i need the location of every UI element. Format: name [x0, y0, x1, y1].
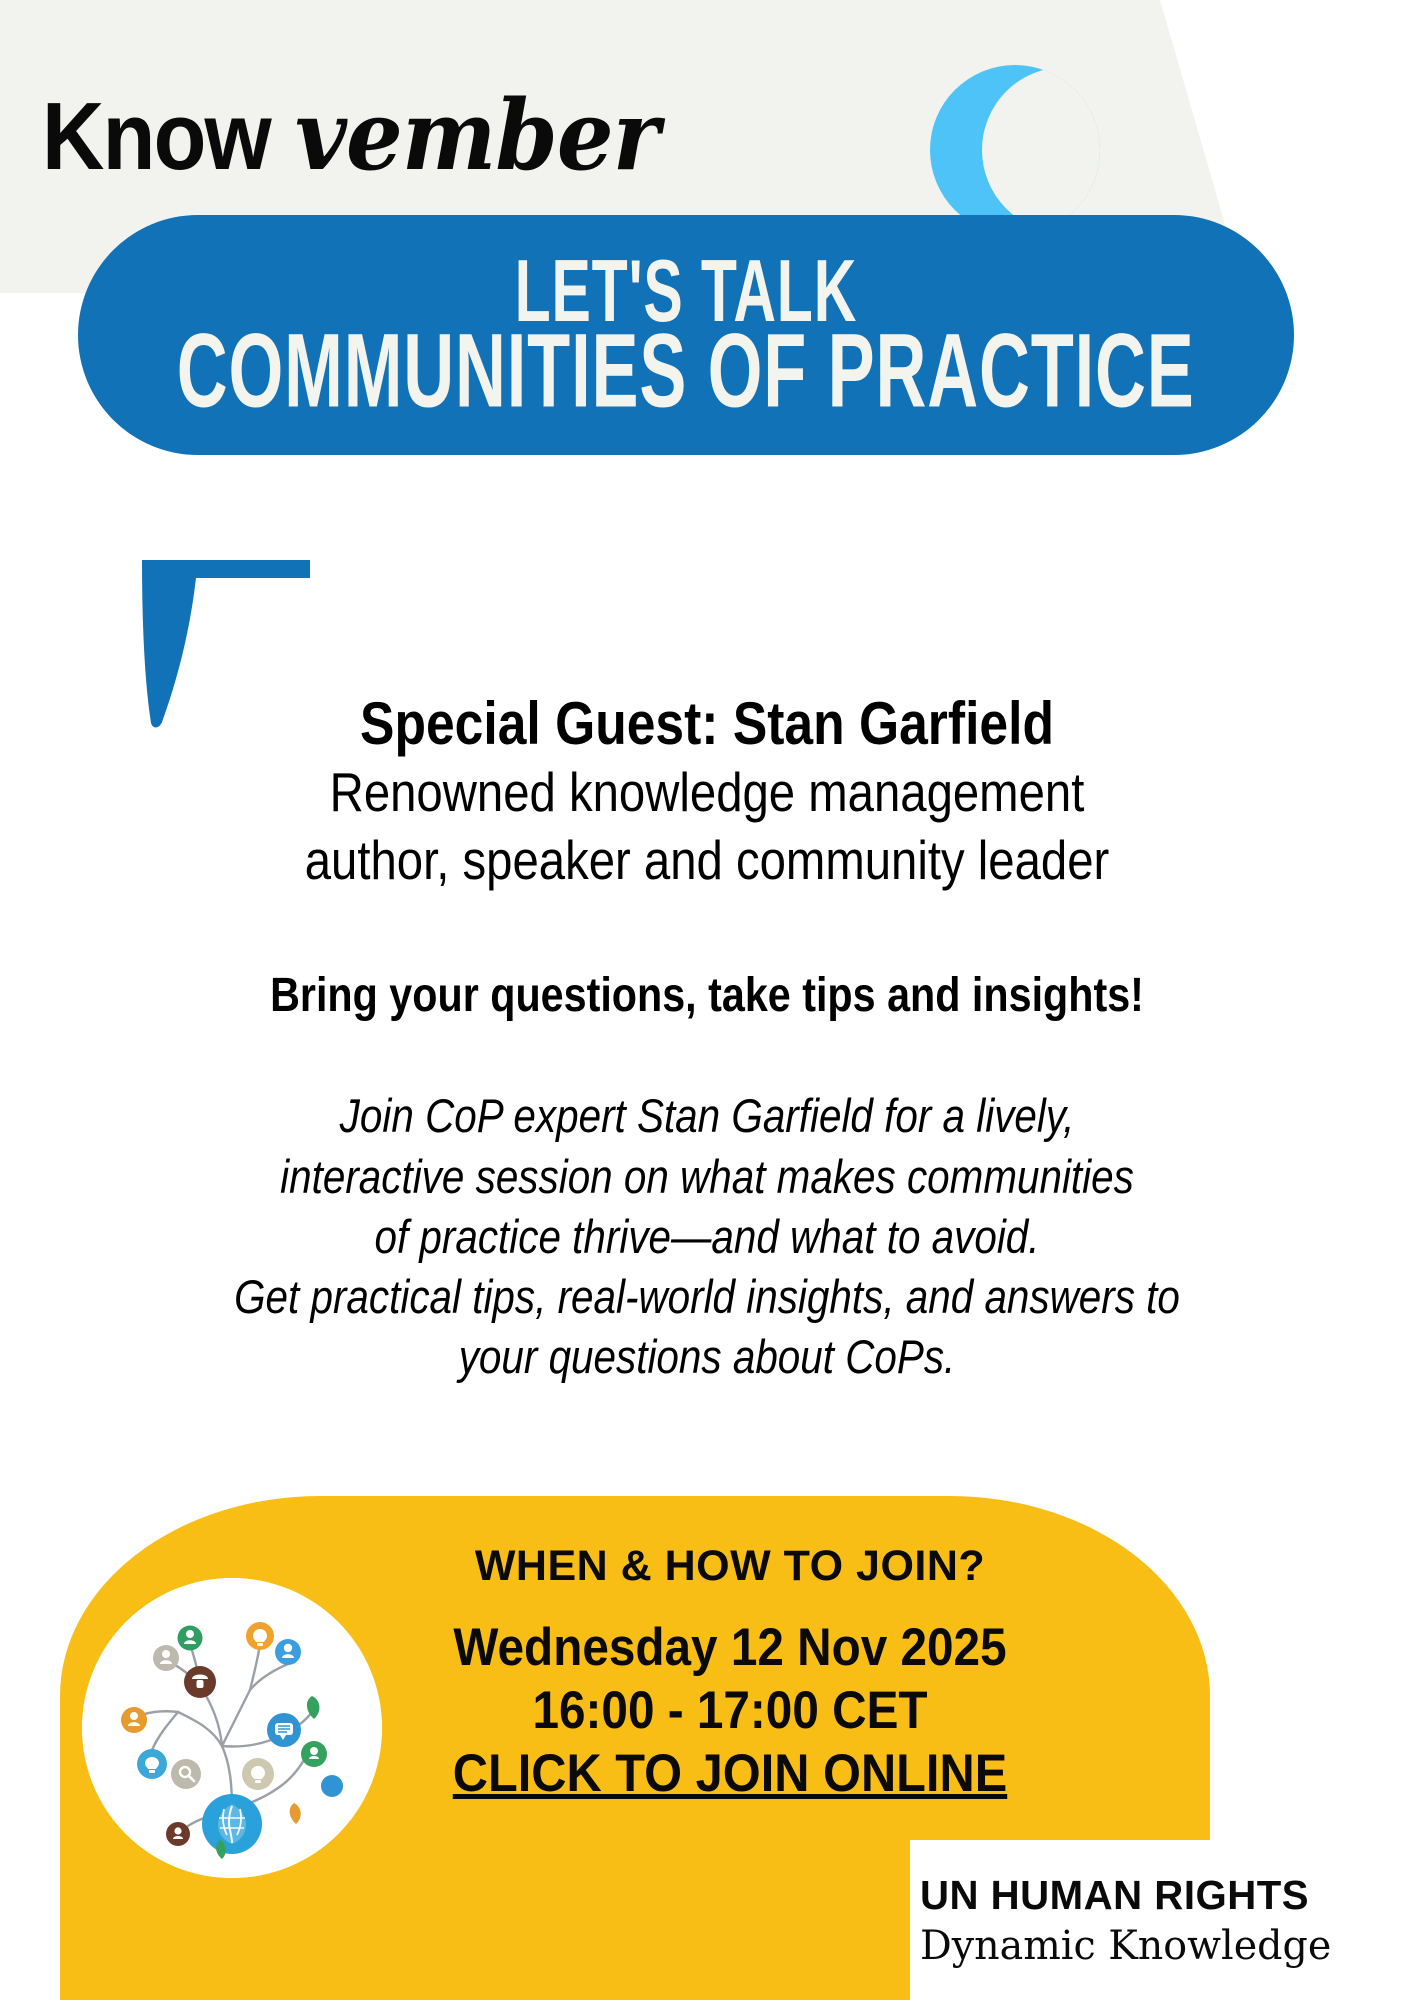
main-content: Special Guest: Stan Garfield Renowned kn…: [0, 690, 1414, 1387]
logo-line-1: UN HUMAN RIGHTS: [920, 1872, 1309, 1919]
join-details: WHEN & HOW TO JOIN? Wednesday 12 Nov 202…: [330, 1542, 1130, 1806]
paragraph-line-3: of practice thrive—and what to avoid.: [99, 1207, 1315, 1267]
paragraph-line-4: Get practical tips, real-world insights,…: [99, 1267, 1315, 1327]
brand-know: Know: [42, 89, 270, 185]
speech-bubble: LET'S TALK COMMUNITIES OF PRACTICE: [78, 215, 1294, 455]
paragraph-line-1: Join CoP expert Stan Garfield for a live…: [99, 1086, 1315, 1146]
logo-line-2: Dynamic Knowledge: [920, 1923, 1331, 1969]
event-time: 16:00 - 17:00 CET: [370, 1680, 1090, 1743]
brand-vember: vember: [295, 88, 659, 184]
tagline: Bring your questions, take tips and insi…: [99, 967, 1315, 1025]
guest-desc-line-1: Renowned knowledge management: [99, 761, 1315, 825]
join-online-link[interactable]: CLICK TO JOIN ONLINE: [362, 1742, 1098, 1806]
event-date: Wednesday 12 Nov 2025: [370, 1617, 1090, 1680]
paragraph-line-2: interactive session on what makes commun…: [99, 1147, 1315, 1207]
bubble-line-2: COMMUNITIES OF PRACTICE: [177, 320, 1195, 423]
un-human-rights-logo: UN HUMAN RIGHTS Dynamic Knowledge: [910, 1840, 1382, 2000]
brand-logo: Knowvember: [42, 88, 687, 185]
paragraph-line-5: your questions about CoPs.: [99, 1327, 1315, 1387]
guest-desc-line-2: author, speaker and community leader: [99, 829, 1315, 893]
join-heading: WHEN & HOW TO JOIN?: [330, 1542, 1130, 1591]
speech-bubble-tail: [140, 560, 330, 750]
knowledge-network-illustration: [82, 1578, 382, 1878]
